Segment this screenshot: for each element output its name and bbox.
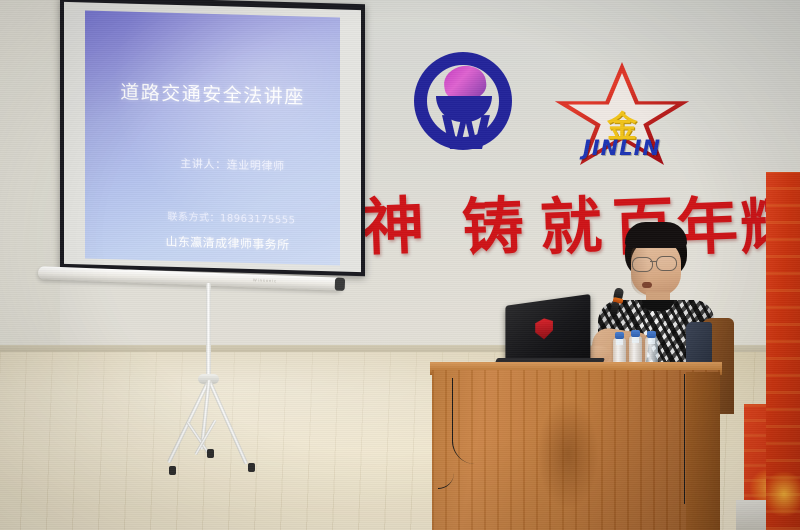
slide-glare: [85, 10, 340, 265]
tripod-pole: [206, 283, 211, 388]
bottle-neck: [632, 336, 639, 343]
podium-cable-right: [684, 374, 695, 504]
lecture-hall-photo: W 金 JINLIN 神铸就百年辉 道路交通安全法讲座 主讲人：连业明律师 联系…: [0, 0, 800, 530]
presentation-slide: 道路交通安全法讲座 主讲人：连业明律师 联系方式：18963175555 山东瀛…: [85, 10, 340, 265]
projection-screen: 道路交通安全法讲座 主讲人：连业明律师 联系方式：18963175555 山东瀛…: [60, 0, 365, 290]
podium: [432, 370, 720, 530]
calligraphy-char-2: 就: [539, 195, 603, 259]
jinlin-brand-text: JINLIN: [552, 136, 692, 160]
bottle-neck: [616, 338, 623, 345]
logo-w-letter: W: [408, 110, 520, 156]
tripod-foot-center: [207, 449, 214, 458]
bottle-neck: [648, 337, 655, 344]
bottle-cap: [615, 332, 624, 339]
roller-end-cap: [335, 278, 345, 291]
podium-cable-left: [452, 378, 475, 464]
presenter-mouth: [642, 282, 652, 288]
dragon-shield-icon: [535, 317, 553, 340]
jinlin-star-logo: 金 JINLIN: [552, 62, 692, 180]
presenter-fringe: [625, 222, 687, 248]
bottle-cap: [647, 331, 656, 338]
tripod-foot-left: [169, 466, 176, 475]
podium-wood-knot: [537, 398, 599, 510]
side-wall: [0, 0, 60, 360]
calligraphy-char-0: 神: [361, 195, 425, 259]
right-banner-flower-motif: [766, 472, 800, 516]
glasses-right-lens: [656, 256, 677, 271]
screen-brand-text: Winsonic: [253, 277, 277, 283]
right-edge-red-banner: [766, 172, 800, 530]
glasses-bridge: [650, 261, 657, 262]
bottle-cap: [631, 330, 640, 337]
calligraphy-char-1: 铸: [461, 195, 525, 259]
tripod-foot-right: [248, 463, 255, 472]
glasses-left-lens: [632, 257, 653, 272]
company-w-logo: W: [408, 48, 520, 170]
